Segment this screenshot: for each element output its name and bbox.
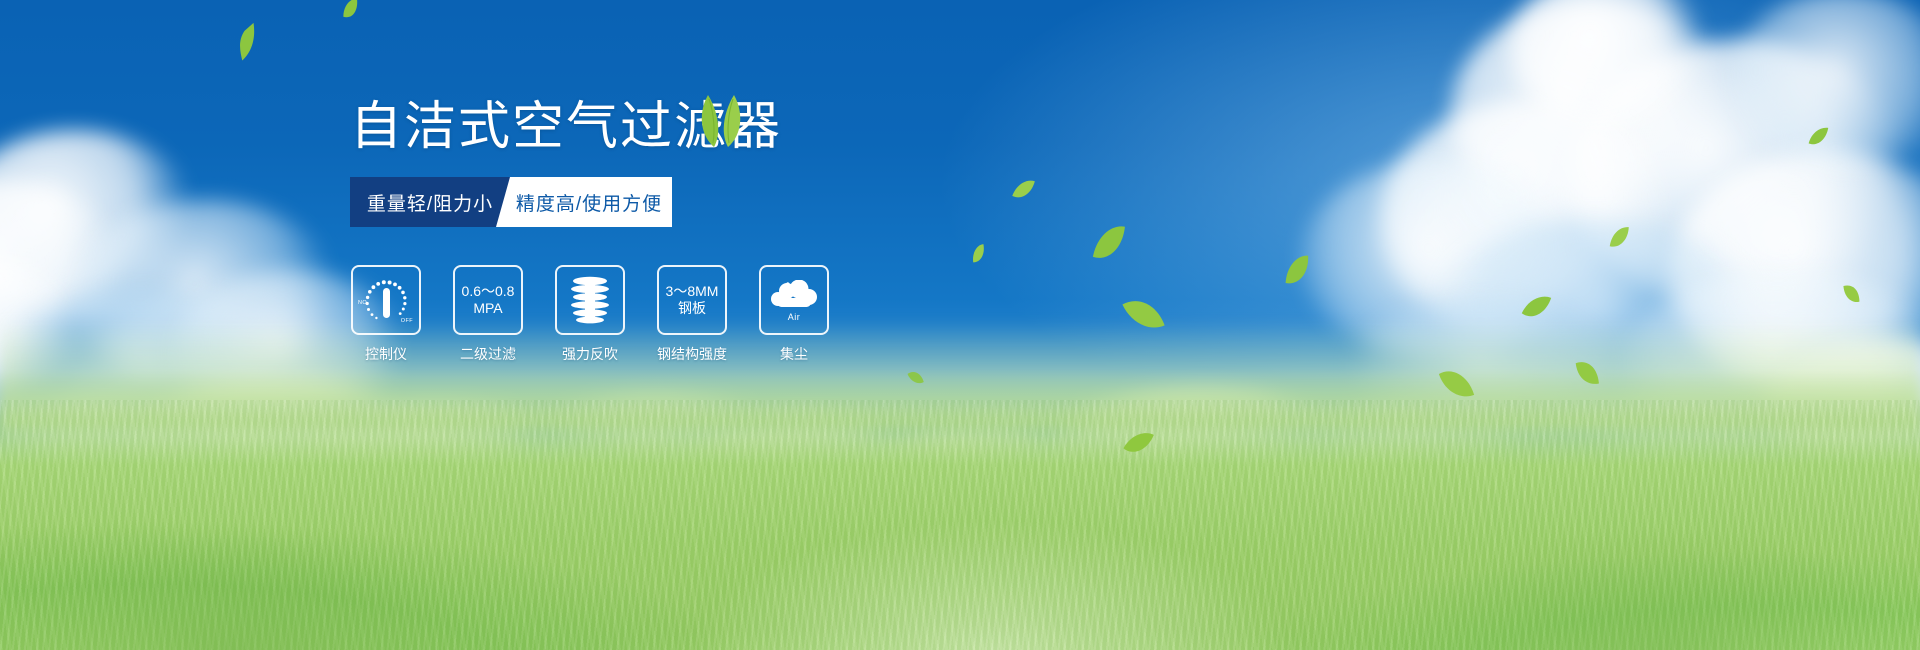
feature-label: 控制仪 (365, 344, 407, 364)
steel-thickness-line2: 钢板 (678, 300, 706, 317)
tab-precision-convenience[interactable]: 精度高/使用方便 (496, 177, 672, 227)
dust-collection-cloud-icon (769, 280, 819, 314)
grass-texture (0, 400, 1920, 650)
flying-leaf-icon (336, 0, 367, 25)
flying-leaf-icon (224, 17, 266, 68)
feature-icon-box: 0.6～0.8 MPA (453, 265, 523, 335)
feature-list: NO OFF 控制仪 0.6～0.8 MPA 二级过滤 (350, 265, 1070, 364)
feature-icon-box: 3～8MM 钢板 (657, 265, 727, 335)
feature-item-steel-strength[interactable]: 3～8MM 钢板 钢结构强度 (656, 265, 728, 364)
feature-item-pressure[interactable]: 0.6～0.8 MPA 二级过滤 (452, 265, 524, 364)
feature-label: 集尘 (780, 344, 808, 364)
feature-label: 钢结构强度 (657, 344, 727, 364)
sprout-leaves-icon (688, 93, 754, 149)
feature-label: 强力反吹 (562, 344, 618, 364)
gauge-max-label: OFF (401, 318, 413, 324)
grass-field (0, 370, 1920, 650)
feature-icon-box: Air (759, 265, 829, 335)
feature-icon-box (555, 265, 625, 335)
pressure-value-line2: MPA (473, 300, 502, 317)
filter-cartridge-icon (566, 273, 614, 327)
feature-label: 二级过滤 (460, 344, 516, 364)
control-dial-gauge-icon: NO OFF (358, 274, 414, 326)
banner-content: 自洁式空气过滤器 重量轻/阻力小 精度高/使用方便 (350, 95, 1070, 364)
feature-item-backblow[interactable]: 强力反吹 (554, 265, 626, 364)
product-banner: 自洁式空气过滤器 重量轻/阻力小 精度高/使用方便 (0, 0, 1920, 650)
tab-group: 重量轻/阻力小 精度高/使用方便 (350, 177, 674, 227)
steel-thickness-line1: 3～8MM (666, 283, 719, 300)
feature-item-control-gauge[interactable]: NO OFF 控制仪 (350, 265, 422, 364)
flying-leaf-icon (1083, 220, 1137, 268)
air-label: Air (788, 312, 801, 322)
tab-weight-resistance[interactable]: 重量轻/阻力小 (350, 177, 510, 227)
gauge-min-label: NO (358, 300, 367, 306)
feature-icon-box: NO OFF (351, 265, 421, 335)
pressure-value-line1: 0.6～0.8 (462, 283, 515, 300)
feature-item-dust-collection[interactable]: Air 集尘 (758, 265, 830, 364)
